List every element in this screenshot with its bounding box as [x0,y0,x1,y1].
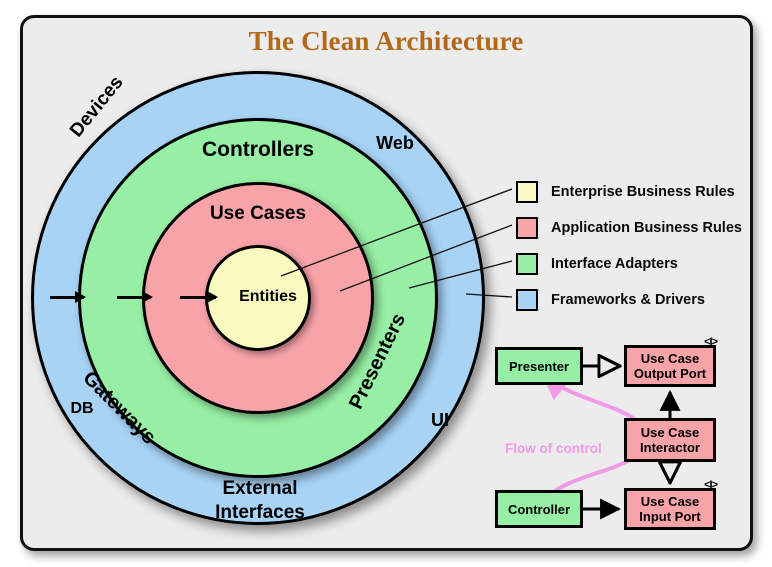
label-external-interfaces: External Interfaces [160,477,360,525]
legend-swatch-icon-application [516,217,538,239]
legend-swatch-icon-enterprise [516,181,538,203]
page-title: The Clean Architecture [0,26,772,57]
legend-item-interface-adapters: Interface Adapters [516,252,756,276]
label-web: Web [340,133,450,154]
legend-label-adapters: Interface Adapters [551,256,678,272]
flow-box-interactor-label: Use Case Interactor [640,425,700,455]
legend-item-frameworks-and-drivers: Frameworks & Drivers [516,288,756,312]
clean-architecture-diagram: The Clean Architecture Controllers Use C… [0,0,772,567]
interface-marker-icon-output-port: <I> [704,335,717,350]
legend-item-application-business-rules: Application Business Rules [516,216,756,240]
legend-label-enterprise: Enterprise Business Rules [551,184,735,200]
flow-box-input-port-line1: Use Case [641,494,700,509]
flow-box-presenter-label: Presenter [509,359,569,374]
flow-box-controller[interactable]: Controller [495,490,583,528]
label-entities: Entities [212,288,324,306]
flow-box-use-case-output-port[interactable]: <I> Use Case Output Port [624,345,716,387]
flow-box-presenter[interactable]: Presenter [495,347,583,385]
label-external-interfaces-line2: Interfaces [160,501,360,525]
label-use-cases: Use Cases [150,203,366,225]
flow-box-use-case-input-port[interactable]: <I> Use Case Input Port [624,488,716,530]
flow-box-use-case-interactor[interactable]: Use Case Interactor [624,418,716,462]
dependency-arrow-icon-2 [117,296,151,299]
legend: Enterprise Business Rules Application Bu… [516,180,756,324]
legend-swatch-icon-frameworks [516,289,538,311]
flow-box-output-port-line1: Use Case [641,351,700,366]
flow-box-input-port-line2: Input Port [639,509,700,524]
flow-box-interactor-line2: Interactor [640,440,700,455]
label-flow-of-control: Flow of control [505,441,602,456]
flow-box-controller-label: Controller [508,502,570,517]
label-external-interfaces-line1: External [160,477,360,501]
dependency-arrow-icon-1 [50,296,84,299]
label-ui: UI [390,410,490,431]
legend-label-frameworks: Frameworks & Drivers [551,292,705,308]
legend-label-application: Application Business Rules [551,220,742,236]
dependency-arrow-icon-3 [180,296,216,299]
flow-box-output-port-label: Use Case Output Port [634,351,706,381]
flow-box-interactor-line1: Use Case [641,425,700,440]
interface-marker-icon-input-port: <I> [704,478,717,493]
flow-box-input-port-label: Use Case Input Port [639,494,700,524]
legend-swatch-icon-adapters [516,253,538,275]
legend-item-enterprise-business-rules: Enterprise Business Rules [516,180,756,204]
flow-box-output-port-line2: Output Port [634,366,706,381]
